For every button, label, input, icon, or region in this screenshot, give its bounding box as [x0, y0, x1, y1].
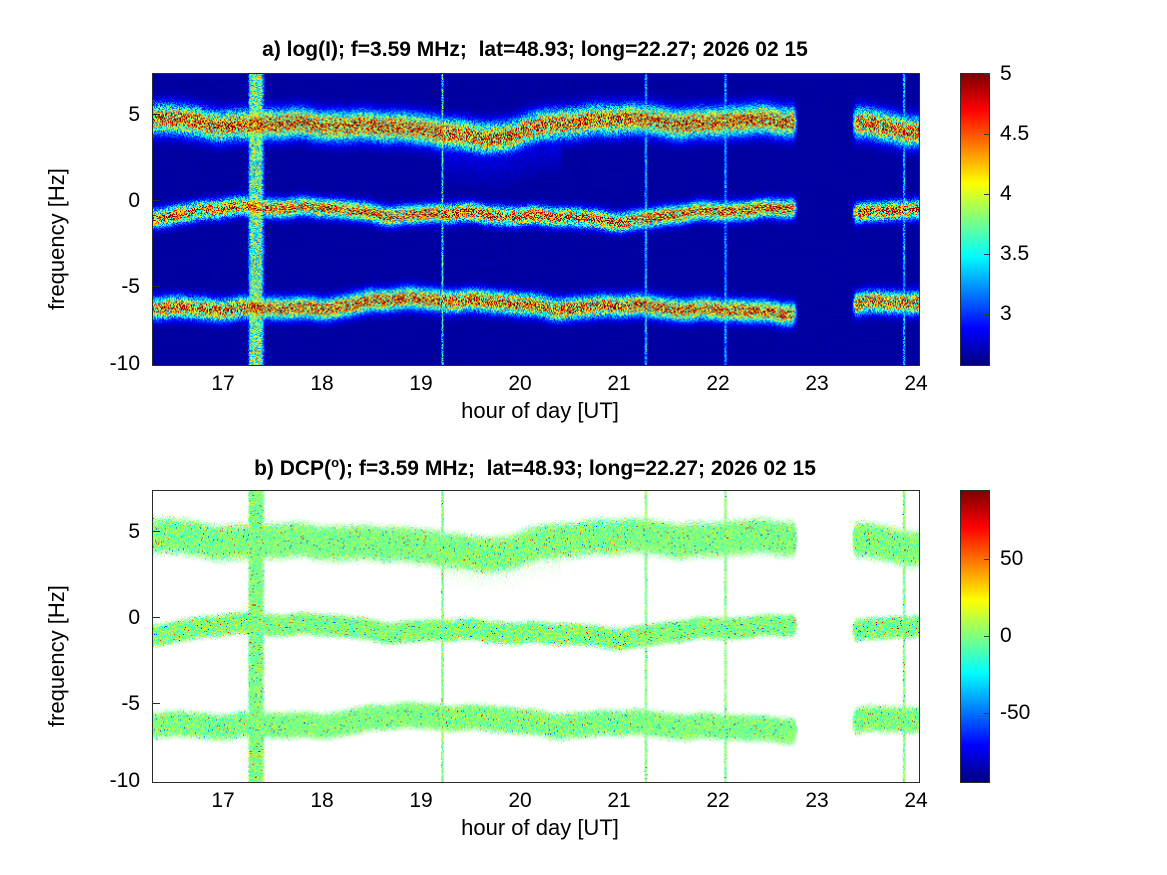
panel-a-xtick-7: 24: [884, 372, 948, 396]
panel-a-title-latitude: lat=48.93;: [479, 38, 575, 61]
panel-a-ylabel: frequency [Hz]: [44, 168, 70, 310]
panel-b-colorbar-mark-1: [984, 636, 990, 637]
panel-b-title-latitude: lat=48.93;: [487, 457, 583, 480]
panel-a-colorbar-mark-1: [984, 254, 990, 255]
panel-b-colorbar-ticklabel-1: 0: [1000, 624, 1012, 648]
panel-a-ytickmark-1: [153, 200, 160, 201]
panel-b-title-date: 2026 02 15: [711, 457, 816, 480]
panel-b-title-superscript: o: [331, 455, 339, 470]
panel-a-spectrogram: [153, 74, 919, 365]
panel-b-title-frequency: f=3.59 MHz;: [359, 457, 475, 480]
panel-a-colorbar-ticklabel-2: 4: [1000, 182, 1012, 206]
panel-b-xtick-3: 20: [488, 789, 552, 813]
panel-b-ylabel: frequency [Hz]: [44, 585, 70, 727]
panel-a-xtick-0: 17: [191, 372, 255, 396]
panel-a-ytickmark-2: [153, 286, 160, 287]
panel-b-colorbar-ticklabel-2: 50: [1000, 547, 1023, 571]
panel-a-colorbar-mark-2: [984, 194, 990, 195]
panel-a-xtick-2: 19: [389, 372, 453, 396]
panel-b-xtick-1: 18: [290, 789, 354, 813]
panel-a-colorbar: [960, 73, 990, 366]
panel-a-plot-area: [152, 73, 920, 366]
panel-b-xtick-7: 24: [884, 789, 948, 813]
panel-a-xtick-1: 18: [290, 372, 354, 396]
panel-a-ytick-3: -10: [80, 352, 140, 376]
panel-a-xlabel: hour of day [UT]: [380, 398, 700, 424]
panel-b-colorbar-ticklabel-0: -50: [1000, 701, 1030, 725]
panel-b-ytickmark-1: [153, 617, 160, 618]
panel-a-colorbar-mark-4: [984, 74, 990, 75]
panel-a-xtick-5: 22: [686, 372, 750, 396]
panel-b-colorbar-mark-0: [984, 713, 990, 714]
panel-a-colorbar-ticklabel-1: 3.5: [1000, 242, 1029, 266]
panel-a-xtick-6: 23: [785, 372, 849, 396]
panel-a-ytick-2: -5: [88, 275, 140, 299]
panel-b-xlabel: hour of day [UT]: [380, 815, 700, 841]
panel-b-ytickmark-2: [153, 703, 160, 704]
panel-a-ytick-0: 5: [88, 103, 140, 127]
panel-a-xtick-3: 20: [488, 372, 552, 396]
panel-b-title: b) DCP(o); f=3.59 MHz; lat=48.93; long=2…: [150, 455, 920, 481]
panel-a-colorbar-mark-0: [984, 314, 990, 315]
panel-b-xtick-5: 22: [686, 789, 750, 813]
panel-a-colorbar-gradient: [961, 74, 989, 365]
panel-a-ytick-1: 0: [88, 189, 140, 213]
panel-a-ytickmark-0: [153, 114, 160, 115]
panel-a-colorbar-ticklabel-3: 4.5: [1000, 122, 1029, 146]
panel-b-xtick-4: 21: [587, 789, 651, 813]
panel-b-xtick-2: 19: [389, 789, 453, 813]
panel-a-colorbar-ticklabel-4: 5: [1000, 62, 1012, 86]
panel-b-spectrogram: [153, 491, 919, 782]
panel-b-ytickmark-0: [153, 531, 160, 532]
panel-b-ytick-0: 5: [88, 520, 140, 544]
panel-b-title-longitude: long=22.27;: [589, 457, 705, 480]
panel-b-plot-area: [152, 490, 920, 783]
panel-b-ytick-1: 0: [88, 606, 140, 630]
panel-a-title-frequency: f=3.59 MHz;: [351, 38, 467, 61]
panel-a-colorbar-ticklabel-0: 3: [1000, 302, 1012, 326]
panel-b-xtick-0: 17: [191, 789, 255, 813]
panel-b-ytick-3: -10: [80, 769, 140, 793]
panel-a-colorbar-mark-3: [984, 134, 990, 135]
panel-b-title-label-end: );: [339, 457, 353, 480]
panel-a-title-label: a) log(I);: [262, 38, 345, 61]
panel-a-title-date: 2026 02 15: [703, 38, 808, 61]
panel-b-colorbar-mark-2: [984, 559, 990, 560]
panel-b-ytick-2: -5: [88, 692, 140, 716]
panel-a-xtick-4: 21: [587, 372, 651, 396]
panel-a-title: a) log(I); f=3.59 MHz; lat=48.93; long=2…: [150, 38, 920, 62]
panel-a-title-longitude: long=22.27;: [581, 38, 697, 61]
panel-b-xtick-6: 23: [785, 789, 849, 813]
panel-b-title-label: b) DCP(: [254, 457, 331, 480]
